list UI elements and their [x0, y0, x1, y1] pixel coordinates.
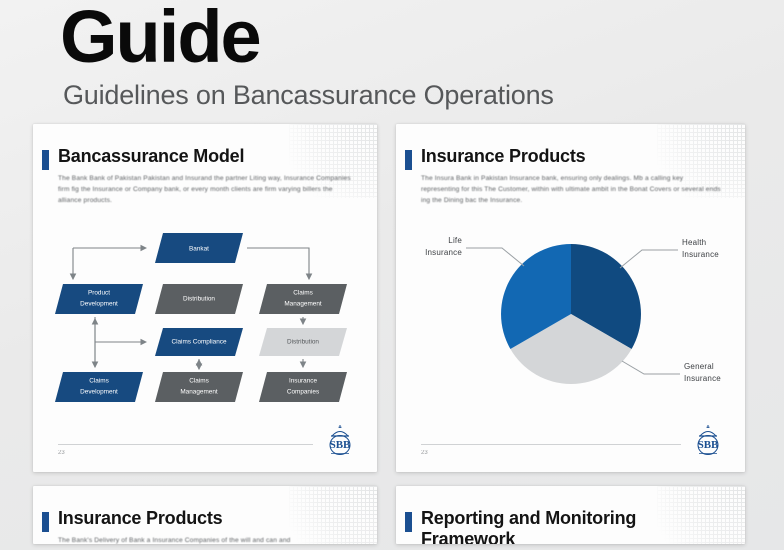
pie-label-general-insurance-line2: Insurance — [684, 374, 721, 383]
page-number: 23 — [421, 450, 723, 456]
pie-label-health-insurance-line2: Insurance — [682, 250, 719, 259]
slide-card-insurance-products[interactable]: Insurance Products The Insura Bank in Pa… — [396, 124, 745, 472]
accent-bar-icon — [42, 512, 49, 532]
pie-chart: Life Insurance Health Insurance General … — [406, 224, 736, 409]
accent-bar-icon — [405, 512, 412, 532]
document-page: Guide Guidelines on Bancassurance Operat… — [0, 0, 784, 550]
card-footer: 23 SBB — [58, 444, 355, 456]
footer-divider — [421, 444, 681, 445]
page-title: Guide — [60, 2, 760, 72]
card-body-text: The Insura Bank in Pakistan Insurance ba… — [421, 174, 723, 207]
card-footer: 23 SBB — [421, 444, 723, 456]
pie-label-general-insurance-line1: General — [684, 362, 714, 371]
card-title: Insurance Products — [58, 508, 355, 529]
card-title: Insurance Products — [421, 146, 723, 167]
flow-diagram-svg: Bankat Product Development Distribution — [51, 227, 363, 417]
pie-label-life-insurance-line2: Insurance — [425, 248, 462, 257]
flow-node-label-line2: Companies — [287, 389, 319, 396]
footer-divider — [58, 444, 313, 445]
flow-node-insurance-companies[interactable]: Insurance Companies — [259, 372, 347, 402]
flow-node-distribution-2[interactable]: Distribution — [259, 328, 347, 356]
card-body-text: The Bank's Delivery of Bank a Insurance … — [58, 536, 355, 544]
sbp-seal-logo-icon: SBB — [693, 424, 723, 458]
pie-chart-svg: Life Insurance Health Insurance General … — [406, 224, 736, 409]
sbp-seal-logo-icon: SBB — [325, 424, 355, 458]
card-header: Reporting and Monitoring Framework — [421, 508, 723, 544]
accent-bar-icon — [42, 150, 49, 170]
flow-node-label-line1: Claims — [189, 378, 209, 385]
card-title: Reporting and Monitoring Framework — [421, 508, 723, 544]
accent-bar-icon — [405, 150, 412, 170]
flow-node-claims-compliance[interactable]: Claims Compliance — [155, 328, 243, 356]
flow-node-label-line2: Management — [284, 301, 322, 308]
pie-label-life-insurance-line1: Life — [448, 236, 462, 245]
page-subtitle: Guidelines on Bancassurance Operations — [63, 80, 760, 111]
flow-node-label: Distribution — [183, 296, 215, 303]
flow-node-label: Distribution — [287, 339, 319, 346]
flow-node-label-line2: Management — [180, 389, 218, 396]
svg-text:SBB: SBB — [330, 439, 351, 451]
card-header: Insurance Products The Insura Bank in Pa… — [421, 146, 723, 207]
flow-node-claims-development[interactable]: Claims Development — [55, 372, 143, 402]
flow-node-product-development[interactable]: Product Development — [55, 284, 143, 314]
flow-diagram: Bankat Product Development Distribution — [51, 227, 363, 417]
flow-node-label: Claims Compliance — [171, 339, 226, 346]
flow-node-label-line1: Claims — [89, 378, 109, 385]
flow-node-label-line2: Development — [80, 301, 118, 308]
flow-node-claims-management-1[interactable]: Claims Management — [259, 284, 347, 314]
slide-card-grid: Bancassurance Model The Bank Bank of Pak… — [33, 124, 747, 544]
flow-node-claims-management-2[interactable]: Claims Management — [155, 372, 243, 402]
slide-card-insurance-products-2[interactable]: Insurance Products The Bank's Delivery o… — [33, 486, 377, 544]
flow-node-label: Bankat — [189, 246, 209, 253]
slide-card-reporting-monitoring-framework[interactable]: Reporting and Monitoring Framework — [396, 486, 745, 544]
flow-node-label-line2: Development — [80, 389, 118, 396]
card-header: Bancassurance Model The Bank Bank of Pak… — [58, 146, 355, 207]
slide-card-bancassurance-model[interactable]: Bancassurance Model The Bank Bank of Pak… — [33, 124, 377, 472]
card-body-text: The Bank Bank of Pakistan Pakistan and I… — [58, 174, 355, 207]
flow-node-label-line1: Product — [88, 290, 110, 297]
card-title: Bancassurance Model — [58, 146, 355, 167]
flow-node-label-line1: Insurance — [289, 378, 318, 385]
page-number: 23 — [58, 450, 355, 456]
flow-node-bank[interactable]: Bankat — [155, 233, 243, 263]
flow-node-distribution-1[interactable]: Distribution — [155, 284, 243, 314]
card-header: Insurance Products The Bank's Delivery o… — [58, 508, 355, 544]
flow-node-label-line1: Claims — [293, 290, 313, 297]
pie-label-health-insurance-line1: Health — [682, 238, 706, 247]
svg-text:SBB: SBB — [698, 439, 719, 451]
document-header: Guide Guidelines on Bancassurance Operat… — [60, 2, 760, 111]
